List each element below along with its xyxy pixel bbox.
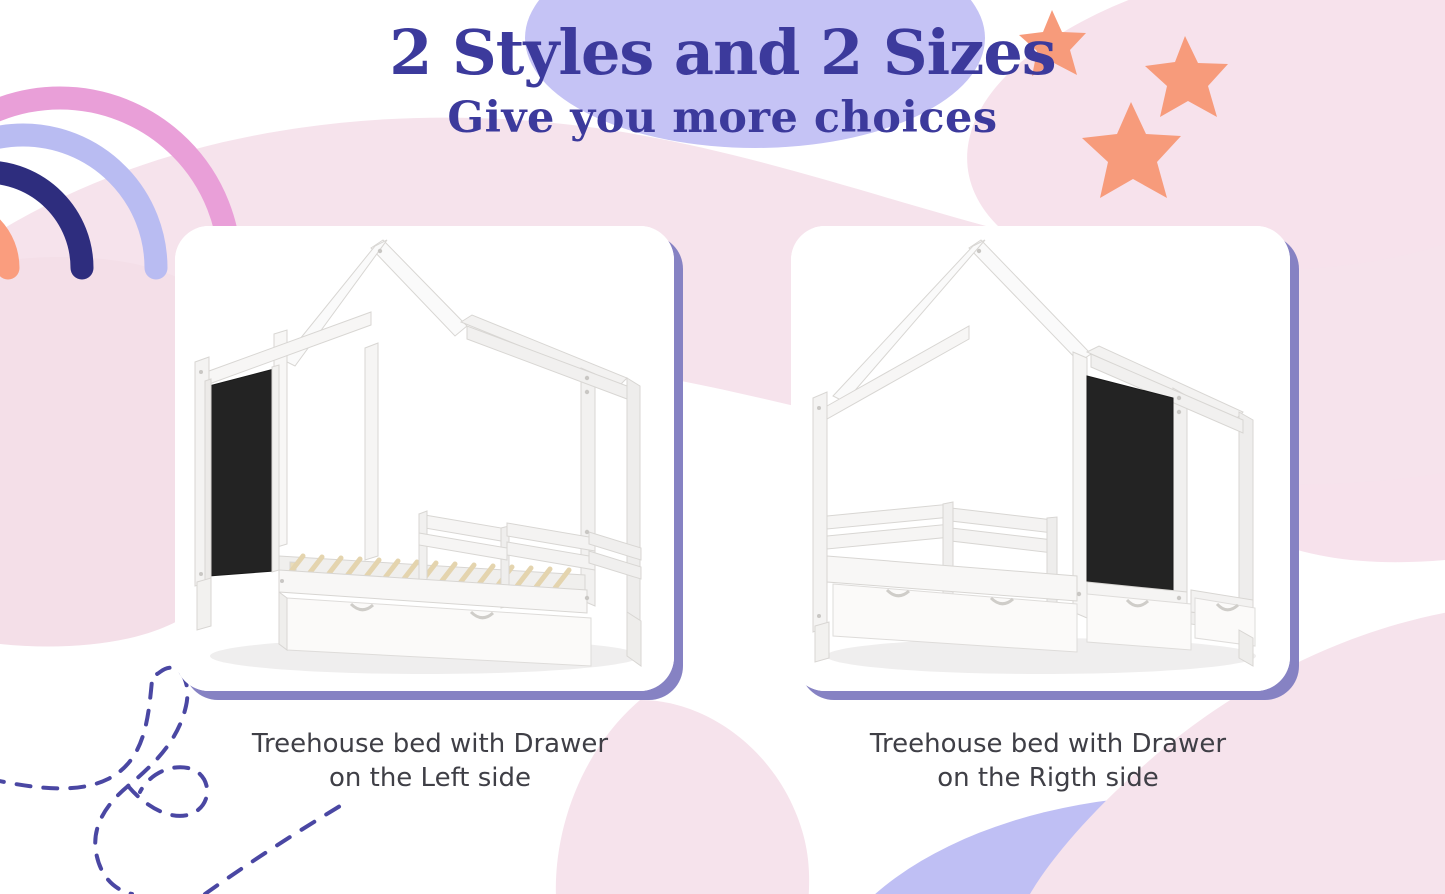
caption-line-2: on the Left side <box>170 762 690 796</box>
product-image-treehouse-bed-drawer-right <box>791 226 1290 691</box>
product-image-treehouse-bed-drawer-left <box>175 226 674 691</box>
card-face <box>175 226 674 691</box>
product-card-right[interactable] <box>791 226 1299 700</box>
caption-line-1: Treehouse bed with Drawer <box>252 729 608 759</box>
caption-line-2: on the Rigth side <box>788 762 1308 796</box>
product-caption-left: Treehouse bed with Drawer on the Left si… <box>170 728 690 796</box>
product-card-left[interactable] <box>175 226 683 700</box>
caption-line-1: Treehouse bed with Drawer <box>870 729 1226 759</box>
promo-banner: 2 Styles and 2 Sizes Give you more choic… <box>0 0 1445 894</box>
card-face <box>791 226 1290 691</box>
product-caption-right: Treehouse bed with Drawer on the Rigth s… <box>788 728 1308 796</box>
